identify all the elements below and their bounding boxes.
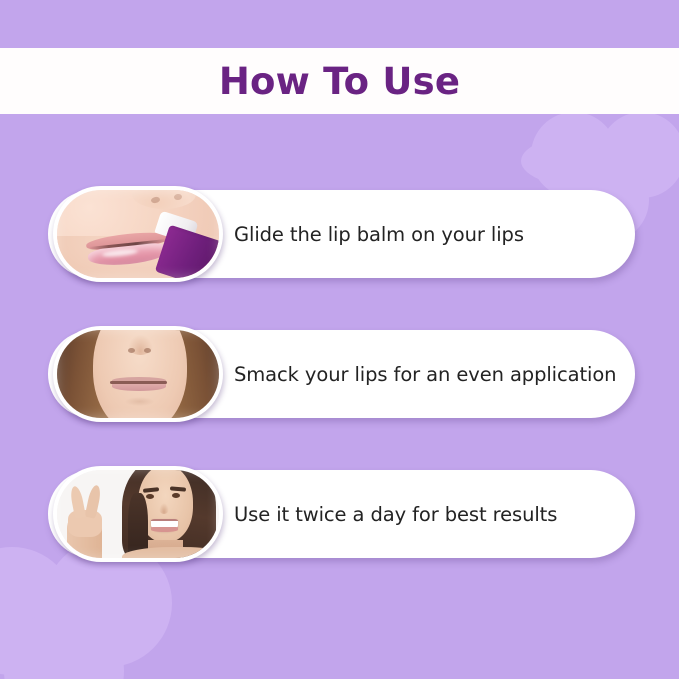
woman-peace-sign-photo — [53, 466, 223, 562]
flower-lobe — [0, 575, 168, 665]
flower-lobe — [531, 112, 617, 198]
step-card: Use it twice a day for best results — [48, 470, 635, 558]
woman-lower-face-illustration — [57, 330, 219, 418]
flower-lobe — [0, 547, 76, 675]
lips-with-lip-balm-photo — [53, 186, 223, 282]
step-label: Glide the lip balm on your lips — [234, 190, 609, 278]
step-card: Smack your lips for an even application — [48, 330, 635, 418]
smiling-woman-peace-sign-illustration — [57, 470, 219, 558]
lip-balm-application-illustration — [57, 190, 219, 278]
how-to-use-infographic: How To Use Gli — [0, 0, 679, 679]
step-card: Glide the lip balm on your lips — [48, 190, 635, 278]
flower-lobe — [521, 132, 679, 190]
woman-pressing-lips-photo — [53, 326, 223, 422]
flower-lobe — [4, 609, 124, 679]
page-title: How To Use — [219, 63, 460, 100]
step-label: Use it twice a day for best results — [234, 470, 609, 558]
header-banner: How To Use — [0, 48, 679, 114]
flower-lobe — [599, 112, 679, 198]
step-label: Smack your lips for an even application — [234, 330, 609, 418]
